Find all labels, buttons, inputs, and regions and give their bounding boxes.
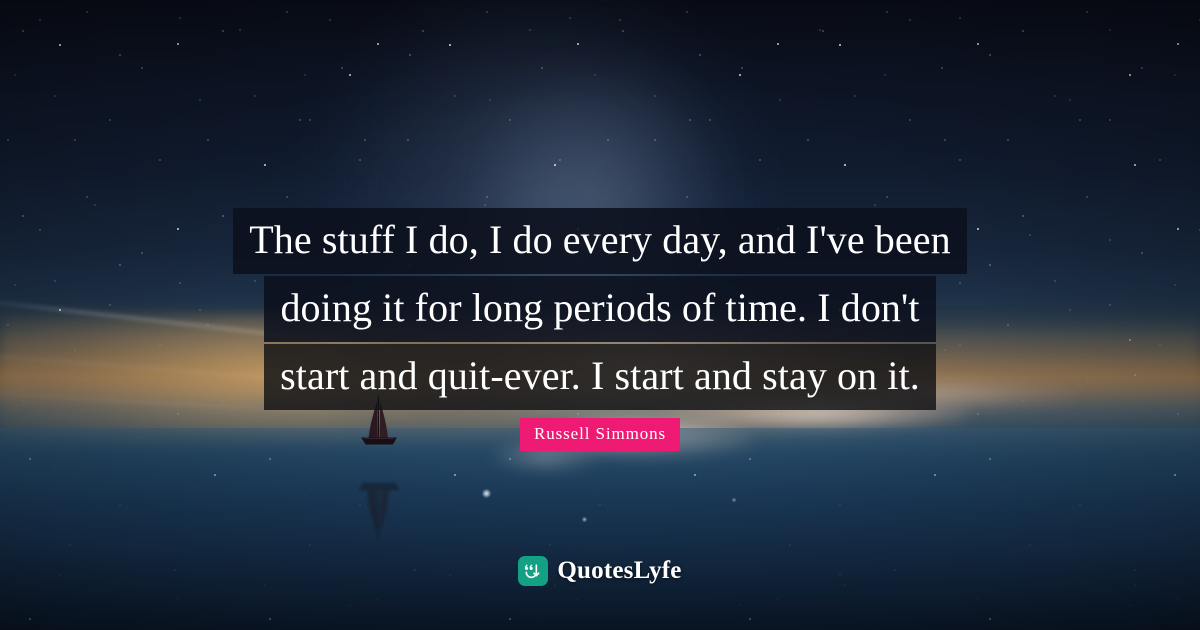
brand-logo[interactable]: QuotesLyfe bbox=[0, 556, 1200, 586]
brand-name: QuotesLyfe bbox=[557, 557, 681, 585]
quote-mark-icon bbox=[518, 556, 548, 586]
author-name-badge: Russell Simmons bbox=[520, 418, 680, 451]
author-attribution: Russell Simmons bbox=[0, 418, 1200, 451]
quote-card: The stuff I do, I do every day, and I've… bbox=[0, 0, 1200, 630]
quote-line: doing it for long periods of time. I don… bbox=[264, 276, 935, 342]
quote-line: The stuff I do, I do every day, and I've… bbox=[233, 208, 966, 274]
quote-text-block: The stuff I do, I do every day, and I've… bbox=[0, 208, 1200, 412]
quote-line: start and quit-ever. I start and stay on… bbox=[264, 344, 936, 410]
